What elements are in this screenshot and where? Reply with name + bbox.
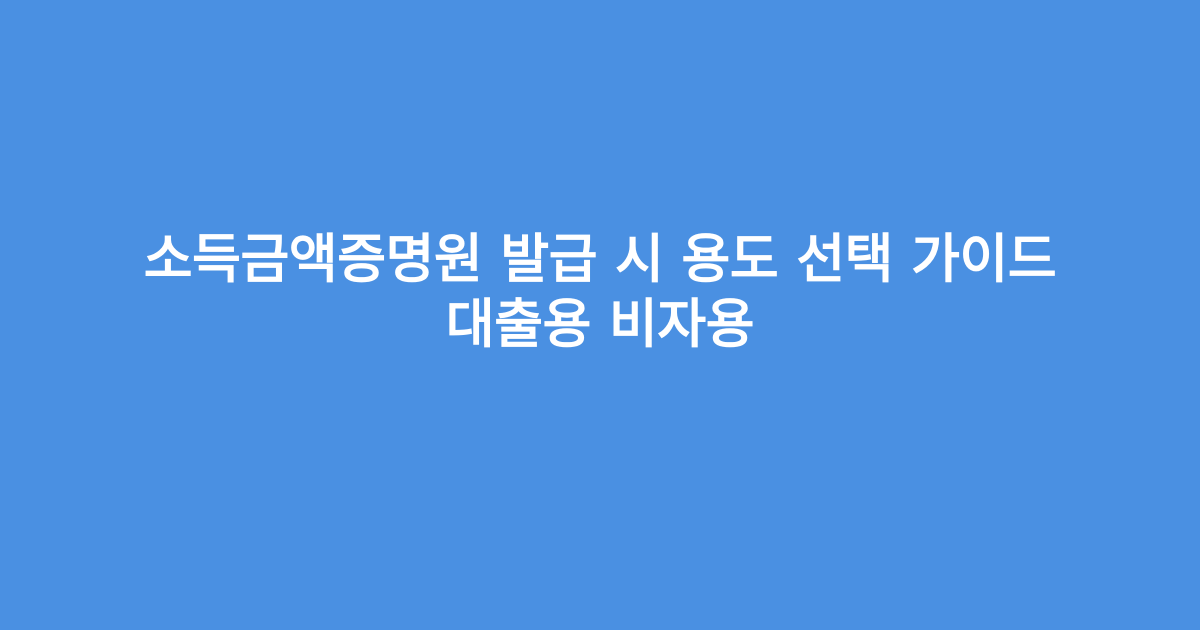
page-title: 소득금액증명원 발급 시 용도 선택 가이드 대출용 비자용 <box>80 228 1120 357</box>
share-card: 소득금액증명원 발급 시 용도 선택 가이드 대출용 비자용 <box>0 0 1200 630</box>
